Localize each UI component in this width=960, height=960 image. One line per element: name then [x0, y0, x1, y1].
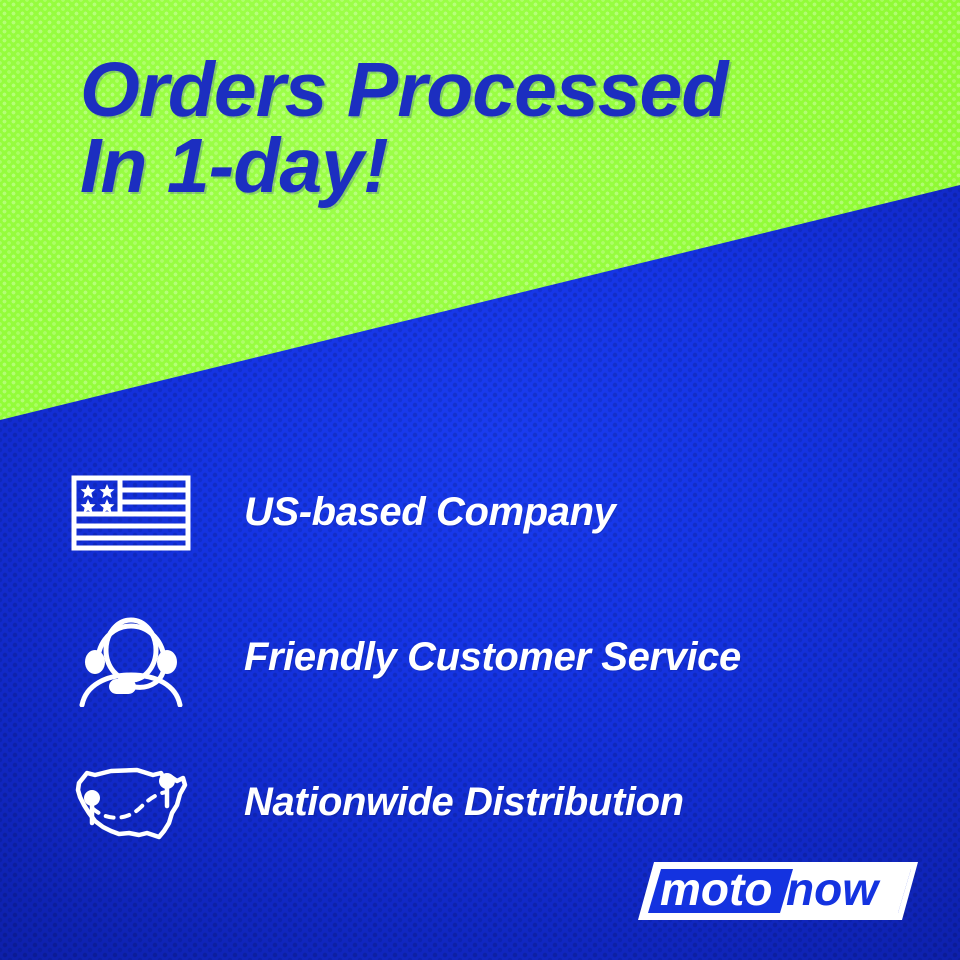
feature-label: Friendly Customer Service: [244, 635, 741, 680]
headset-support-icon: [66, 609, 196, 707]
us-map-pins-icon: [66, 761, 196, 845]
headline: Orders Processed In 1-day!: [80, 52, 920, 204]
motonow-logo: moto now: [638, 858, 918, 924]
feature-list: US-based Company: [0, 440, 960, 875]
feature-label: US-based Company: [244, 490, 615, 535]
logo-word-moto: moto: [660, 863, 772, 915]
us-flag-icon: [66, 475, 196, 551]
feature-item: US-based Company: [0, 440, 960, 585]
promotional-banner: Orders Processed In 1-day!: [0, 0, 960, 960]
feature-item: Friendly Customer Service: [0, 585, 960, 730]
feature-item: Nationwide Distribution: [0, 730, 960, 875]
feature-label: Nationwide Distribution: [244, 780, 684, 825]
logo-word-now: now: [786, 863, 881, 915]
